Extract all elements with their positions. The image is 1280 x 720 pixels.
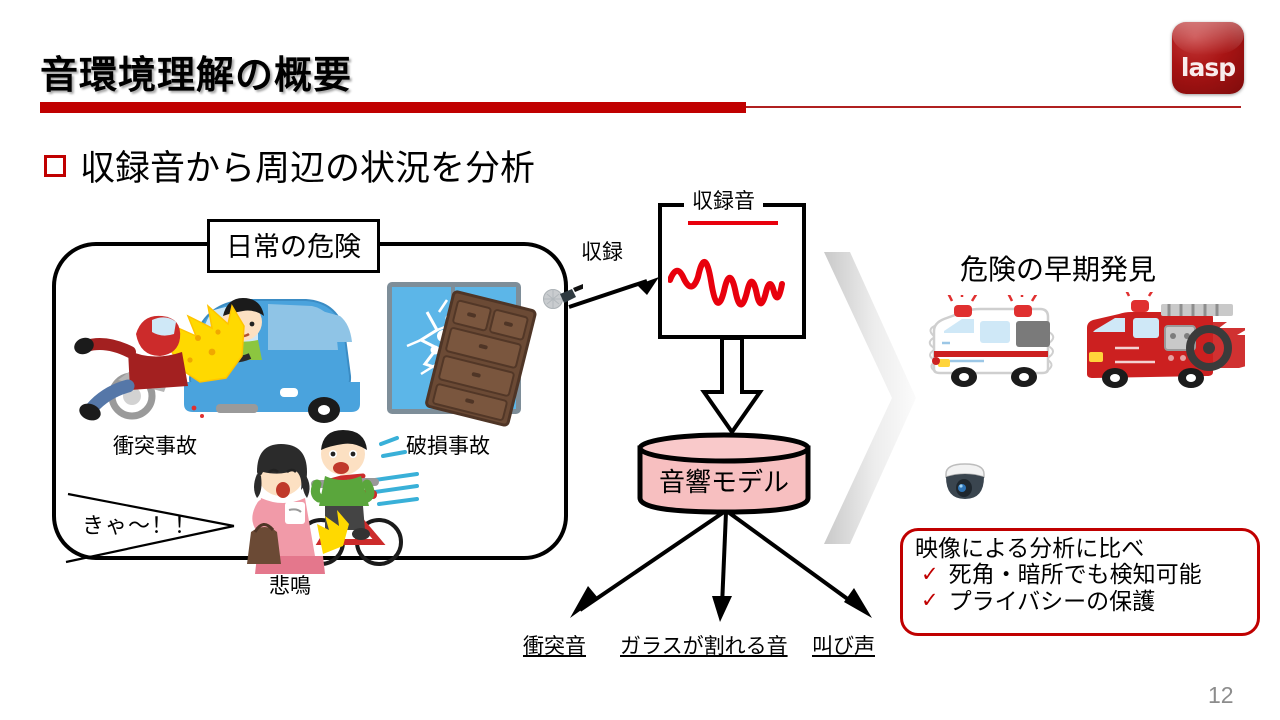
output-label-glass-sound: ガラスが割れる音 (620, 630, 788, 660)
acoustic-model-label: 音響モデル (636, 462, 812, 499)
block-arrow-down (700, 338, 764, 434)
daily-danger-title: 日常の危険 (207, 219, 380, 273)
scream-text: きゃ～！！ (82, 508, 197, 540)
output-label-collision-sound: 衝突音 (523, 630, 586, 660)
advantage-item-1: ✓ 死角・暗所でも検知可能 (921, 561, 1247, 587)
label-scream: 悲鳴 (269, 570, 311, 600)
flow-chevron (822, 252, 918, 544)
title-accent-bar (40, 102, 746, 113)
lasp-logo: lasp (1172, 22, 1244, 94)
advantage-item-1-label: 死角・暗所でも検知可能 (949, 561, 1202, 587)
bicycle-pedestrian-scream-illustration (233, 428, 433, 576)
square-bullet-icon (44, 155, 66, 177)
early-detection-heading: 危険の早期発見 (960, 248, 1156, 288)
advantages-box: 映像による分析に比べ ✓ 死角・暗所でも検知可能 ✓ プライバシーの保護 (900, 528, 1260, 636)
check-icon: ✓ (921, 563, 939, 587)
check-icon: ✓ (921, 589, 939, 613)
title-accent-rule (746, 106, 1241, 108)
recorded-sound-underline (688, 221, 778, 225)
recorded-sound-title: 収録音 (684, 185, 763, 215)
logo-wordmark: lasp (1172, 53, 1244, 82)
record-label: 収録 (581, 236, 623, 266)
page-title: 音環境理解の概要 (40, 44, 352, 99)
page-number: 12 (1208, 682, 1234, 709)
broken-window-falling-dresser-illustration (383, 278, 543, 428)
ambulance-illustration (920, 295, 1070, 391)
red-waveform-icon (668, 240, 796, 318)
bullet-row: 収録音から周辺の状況を分析 (44, 140, 535, 191)
logo-gloss (1172, 22, 1244, 55)
fire-truck-illustration (1075, 292, 1245, 392)
record-arrow (565, 275, 665, 315)
motorcycle-car-collision-illustration (66, 276, 376, 436)
dome-security-camera-icon (942, 462, 988, 504)
label-breakage-accident: 破損事故 (406, 430, 490, 460)
label-collision-accident: 衝突事故 (113, 430, 197, 460)
advantage-item-2-label: プライバシーの保護 (949, 588, 1156, 614)
advantages-heading: 映像による分析に比べ (915, 535, 1247, 561)
bullet-text: 収録音から周辺の状況を分析 (80, 140, 535, 191)
advantage-item-2: ✓ プライバシーの保護 (921, 588, 1247, 614)
output-label-scream-sound: 叫び声 (812, 630, 875, 660)
